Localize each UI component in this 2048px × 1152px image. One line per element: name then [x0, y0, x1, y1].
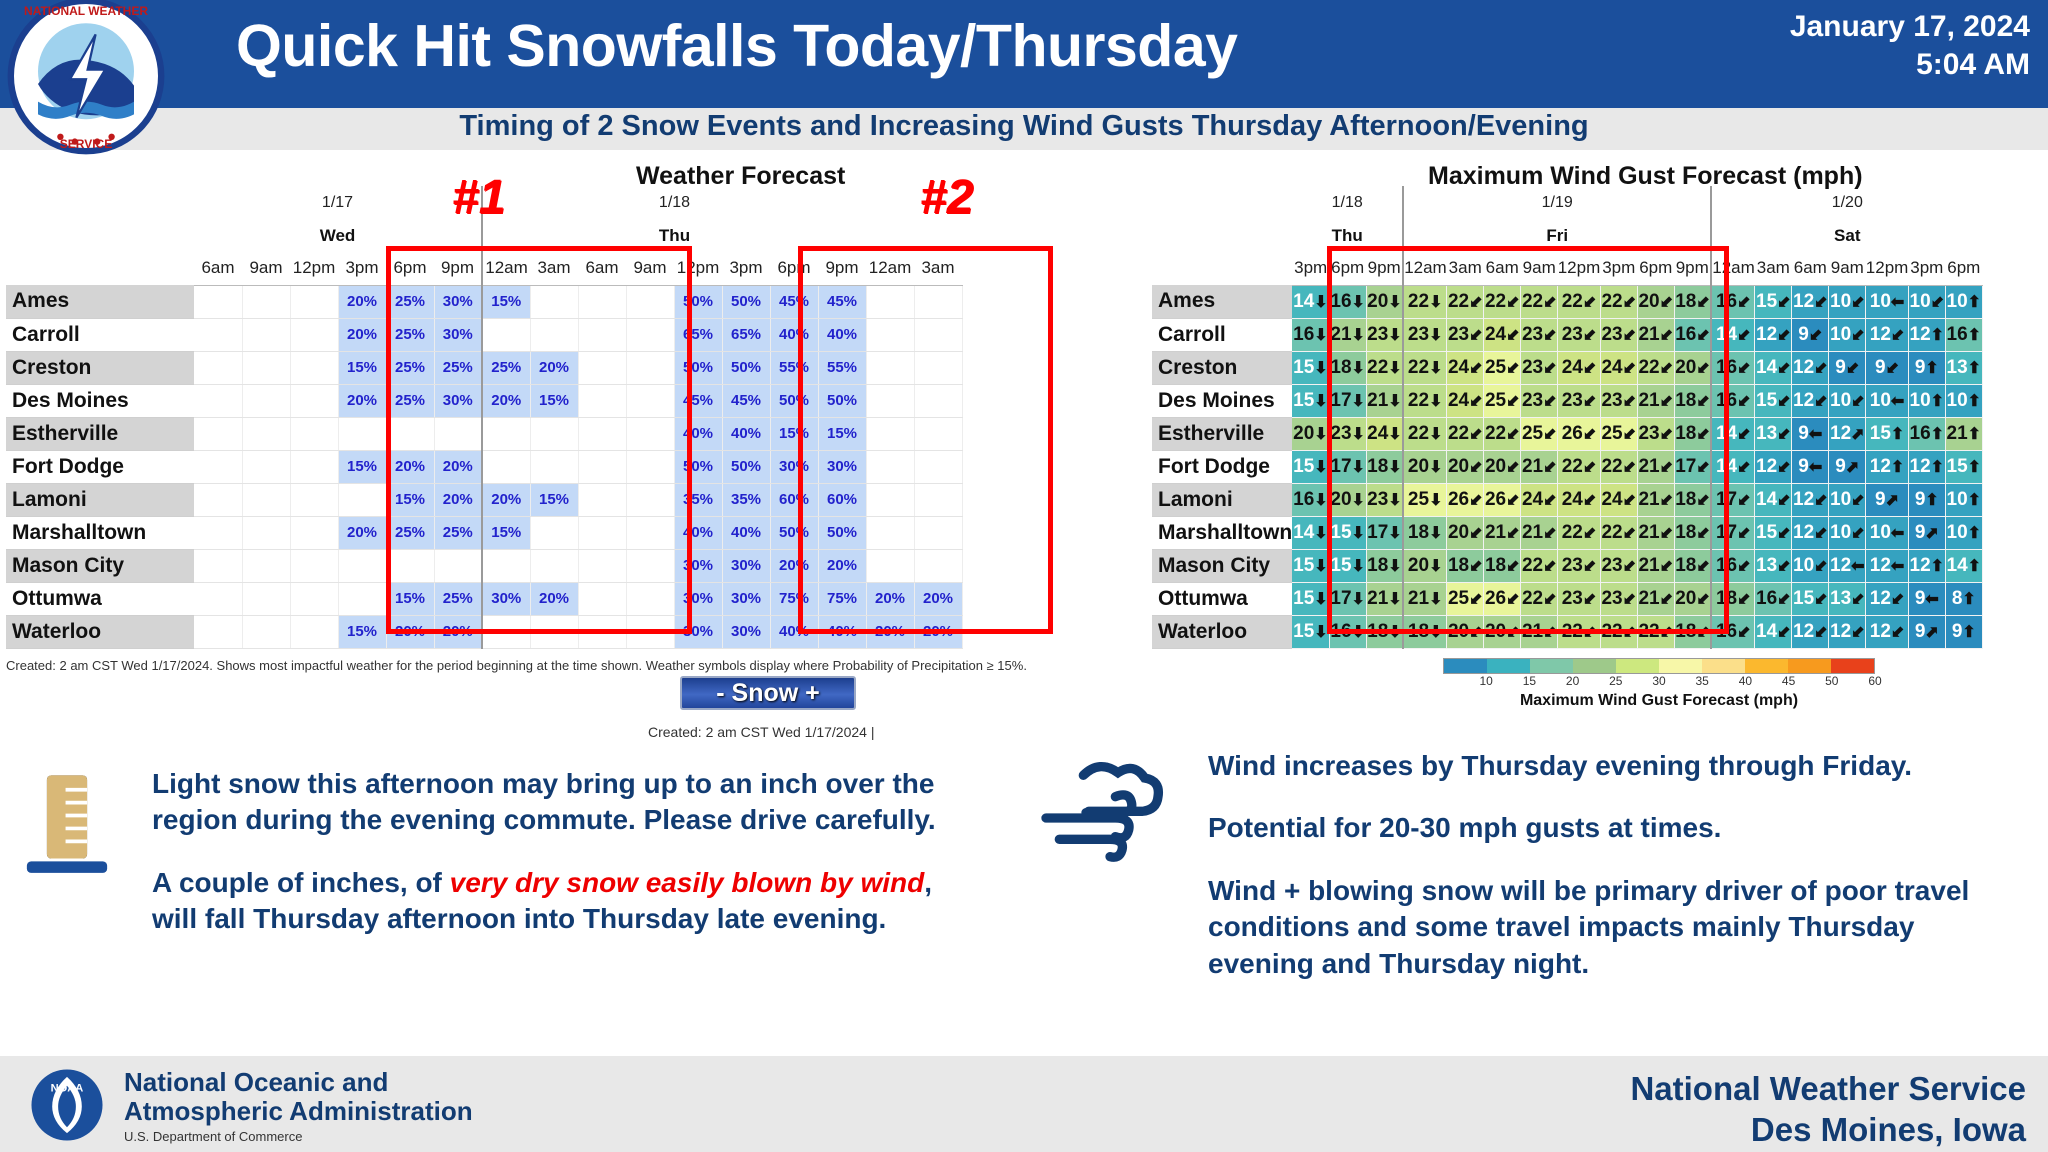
pop-cell: 45% [722, 384, 770, 417]
column-hour-header: 6am [578, 252, 626, 285]
wind-direction-arrow-icon: ⬋ [1851, 589, 1864, 609]
gust-cell: 9⬈ [1908, 615, 1945, 648]
wind-color-scale: 10152025303540455060 Maximum Wind Gust F… [1443, 658, 1875, 710]
wind-direction-arrow-icon: ⬇ [1352, 424, 1365, 444]
pop-cell [578, 549, 626, 582]
wind-direction-arrow-icon: ⬋ [1506, 391, 1519, 411]
gust-value: 16 [1293, 489, 1314, 510]
wind-direction-arrow-icon: ⬇ [1352, 292, 1365, 312]
wind-direction-arrow-icon: ⬋ [1623, 424, 1636, 444]
pop-cell [866, 516, 914, 549]
pop-cell [242, 285, 290, 318]
gust-cell: 22⬇ [1403, 417, 1447, 450]
column-hour-header: 3pm [338, 252, 386, 285]
wind-direction-arrow-icon: ⬇ [1429, 424, 1442, 444]
wind-direction-arrow-icon: ⬆ [1962, 622, 1975, 642]
wind-direction-arrow-icon: ⬋ [1777, 490, 1790, 510]
wind-direction-arrow-icon: ⬋ [1583, 292, 1596, 312]
gust-cell: 26⬋ [1484, 582, 1521, 615]
pop-cell: 50% [722, 285, 770, 318]
city-label: Estherville [1152, 417, 1292, 450]
wind-direction-arrow-icon: ⬋ [1583, 391, 1596, 411]
pop-cell [626, 417, 674, 450]
gust-cell: 16⬇ [1292, 318, 1329, 351]
pop-cell: 25% [386, 285, 434, 318]
table-row: Waterloo15%20%20%30%30%40%40%20%20% [6, 615, 962, 648]
gust-cell: 10⬅ [1866, 285, 1909, 318]
message-right-paragraph: Potential for 20-30 mph gusts at times. [1208, 810, 2018, 846]
pop-cell: 20% [338, 516, 386, 549]
snow-legend-chip: - Snow + [680, 676, 856, 710]
gust-cell: 9⬋ [1866, 351, 1909, 384]
city-label: Lamoni [6, 483, 194, 516]
gust-cell: 17⬋ [1711, 516, 1755, 549]
pop-cell: 30% [434, 285, 482, 318]
pop-cell [578, 351, 626, 384]
gust-cell: 12⬋ [1792, 384, 1829, 417]
table-row: Ottumwa15%25%30%20%30%30%75%75%20%20% [6, 582, 962, 615]
wind-direction-arrow-icon: ⬋ [1737, 523, 1750, 543]
message-right: Wind increases by Thursday evening throu… [1208, 748, 2018, 1008]
wind-direction-arrow-icon: ⬋ [1506, 358, 1519, 378]
pop-cell: 40% [674, 516, 722, 549]
gust-value: 22 [1562, 621, 1583, 642]
gust-value: 24 [1601, 489, 1622, 510]
pop-cell [194, 318, 242, 351]
gust-cell: 22⬋ [1558, 285, 1601, 318]
gust-value: 21 [1638, 555, 1659, 576]
pop-cell: 20% [338, 384, 386, 417]
wind-direction-arrow-icon: ⬋ [1851, 490, 1864, 510]
wind-direction-arrow-icon: ⬋ [1660, 358, 1673, 378]
pop-cell [578, 318, 626, 351]
wind-direction-arrow-icon: ⬅ [1891, 391, 1904, 411]
wind-direction-arrow-icon: ⬋ [1891, 622, 1904, 642]
gust-value: 12 [1793, 522, 1814, 543]
color-scale-segment [1616, 659, 1659, 673]
table-row: Ames14⬇16⬇20⬇22⬇22⬋22⬋22⬋22⬋22⬋20⬋18⬋16⬋… [1152, 285, 1982, 318]
gust-cell: 14⬆ [1945, 549, 1982, 582]
wind-direction-arrow-icon: ⬇ [1314, 457, 1327, 477]
gust-cell: 23⬋ [1521, 351, 1558, 384]
wind-direction-arrow-icon: ⬆ [1925, 358, 1938, 378]
gust-value: 21 [1638, 324, 1659, 345]
wind-direction-arrow-icon: ⬋ [1737, 424, 1750, 444]
gust-value: 10 [1870, 291, 1891, 312]
wind-direction-arrow-icon: ⬋ [1543, 622, 1556, 642]
gust-cell: 12⬆ [1908, 549, 1945, 582]
table-corner [1152, 252, 1292, 285]
wind-direction-arrow-icon: ⬋ [1623, 358, 1636, 378]
chip-created-text: Created: 2 am CST Wed 1/17/2024 | [648, 724, 874, 740]
gust-cell: 18⬋ [1674, 285, 1711, 318]
color-scale-tick: 30 [1652, 674, 1665, 688]
pop-cell [194, 516, 242, 549]
gust-cell: 18⬇ [1366, 615, 1403, 648]
gust-value: 20 [1367, 291, 1388, 312]
wind-direction-arrow-icon: ⬇ [1314, 424, 1327, 444]
column-hour-header: 3am [530, 252, 578, 285]
gust-cell: 23⬇ [1366, 318, 1403, 351]
table-row: Carroll20%25%30%65%65%40%40% [6, 318, 962, 351]
wind-direction-arrow-icon: ⬋ [1469, 490, 1482, 510]
gust-cell: 15⬋ [1755, 516, 1792, 549]
gust-value: 17 [1367, 522, 1388, 543]
gust-value: 18 [1330, 357, 1351, 378]
gust-value: 12 [1870, 621, 1891, 642]
city-label: Waterloo [1152, 615, 1292, 648]
gust-cell: 17⬇ [1329, 450, 1366, 483]
column-group-date: 1/17 [194, 186, 482, 219]
column-group-day: Thu [1292, 219, 1403, 252]
wind-direction-arrow-icon: ⬋ [1469, 325, 1482, 345]
wind-direction-arrow-icon: ⬋ [1777, 622, 1790, 642]
gust-cell: 14⬇ [1292, 516, 1329, 549]
gust-cell: 9⬆ [1908, 483, 1945, 516]
gust-value: 16 [1716, 357, 1737, 378]
column-hour-header: 3am [914, 252, 962, 285]
gust-cell: 15⬇ [1292, 615, 1329, 648]
gust-cell: 15⬇ [1292, 549, 1329, 582]
table-row: Des Moines20%25%30%20%15%45%45%50%50% [6, 384, 962, 417]
gust-cell: 18⬇ [1403, 516, 1447, 549]
wind-direction-arrow-icon: ⬅ [1891, 556, 1904, 576]
wind-direction-arrow-icon: ⬇ [1388, 457, 1401, 477]
wind-direction-arrow-icon: ⬋ [1696, 589, 1709, 609]
wind-direction-arrow-icon: ⬇ [1388, 325, 1401, 345]
gust-cell: 23⬋ [1558, 318, 1601, 351]
pop-cell: 50% [722, 450, 770, 483]
gust-cell: 18⬋ [1674, 516, 1711, 549]
gust-cell: 18⬋ [1674, 483, 1711, 516]
city-label: Waterloo [6, 615, 194, 648]
wind-direction-arrow-icon: ⬋ [1469, 589, 1482, 609]
pop-cell: 50% [770, 516, 818, 549]
pop-cell [242, 450, 290, 483]
gust-value: 12 [1910, 456, 1931, 477]
gust-cell: 20⬇ [1403, 549, 1447, 582]
wind-direction-arrow-icon: ⬋ [1583, 556, 1596, 576]
noaa-logo: NOAA [30, 1068, 104, 1142]
pop-cell: 25% [434, 516, 482, 549]
gust-cell: 16⬆ [1945, 318, 1982, 351]
wind-direction-arrow-icon: ⬋ [1777, 589, 1790, 609]
color-scale-tick: 40 [1739, 674, 1752, 688]
pop-cell [290, 384, 338, 417]
gust-cell: 22⬋ [1558, 450, 1601, 483]
pop-cell: 45% [674, 384, 722, 417]
pop-cell [530, 450, 578, 483]
pop-cell [866, 483, 914, 516]
wind-direction-arrow-icon: ⬅ [1851, 556, 1864, 576]
pop-cell: 55% [818, 351, 866, 384]
gust-cell: 23⬋ [1558, 582, 1601, 615]
pop-cell [866, 285, 914, 318]
city-label: Creston [6, 351, 194, 384]
gust-cell: 15⬇ [1329, 516, 1366, 549]
gust-value: 9 [1915, 489, 1926, 510]
gust-cell: 20⬇ [1292, 417, 1329, 450]
column-hour-header: 6pm [1329, 252, 1366, 285]
gust-value: 10 [1870, 522, 1891, 543]
wind-direction-arrow-icon: ⬋ [1506, 325, 1519, 345]
gust-cell: 12⬋ [1792, 615, 1829, 648]
pop-cell: 65% [722, 318, 770, 351]
wind-direction-arrow-icon: ⬋ [1583, 523, 1596, 543]
gust-cell: 21⬋ [1521, 516, 1558, 549]
wind-direction-arrow-icon: ⬇ [1314, 523, 1327, 543]
city-label: Marshalltown [6, 516, 194, 549]
gust-value: 18 [1367, 621, 1388, 642]
pop-cell [194, 483, 242, 516]
pop-cell: 30% [482, 582, 530, 615]
column-group-date: 1/18 [482, 186, 866, 219]
gust-value: 22 [1522, 588, 1543, 609]
gust-value: 20 [1675, 357, 1696, 378]
gust-value: 15 [1330, 522, 1351, 543]
city-label: Creston [1152, 351, 1292, 384]
wind-direction-arrow-icon: ⬆ [1931, 325, 1944, 345]
pop-cell [914, 285, 962, 318]
gust-value: 12 [1793, 621, 1814, 642]
gust-value: 10 [1910, 291, 1931, 312]
gust-cell: 13⬋ [1755, 549, 1792, 582]
wind-direction-arrow-icon: ⬋ [1543, 556, 1556, 576]
gust-value: 14 [1756, 357, 1777, 378]
body-text: Light snow this afternoon may bring up t… [152, 768, 936, 835]
gust-cell: 22⬋ [1600, 615, 1637, 648]
gust-value: 18 [1367, 555, 1388, 576]
message-left-paragraph: A couple of inches, of very dry snow eas… [152, 865, 942, 938]
pop-cell [626, 582, 674, 615]
pop-cell [866, 318, 914, 351]
pop-cell: 35% [674, 483, 722, 516]
wind-direction-arrow-icon: ⬋ [1814, 490, 1827, 510]
gust-value: 17 [1330, 588, 1351, 609]
table-row: Ames20%25%30%15%50%50%45%45% [6, 285, 962, 318]
wind-direction-arrow-icon: ⬋ [1737, 457, 1750, 477]
wind-direction-arrow-icon: ⬆ [1968, 490, 1981, 510]
gust-cell: 18⬇ [1403, 615, 1447, 648]
wind-direction-arrow-icon: ⬋ [1469, 622, 1482, 642]
wind-direction-arrow-icon: ⬇ [1314, 292, 1327, 312]
gust-cell: 25⬇ [1403, 483, 1447, 516]
wind-direction-arrow-icon: ⬋ [1469, 556, 1482, 576]
gust-cell: 24⬋ [1600, 483, 1637, 516]
gust-value: 10 [1830, 489, 1851, 510]
pop-cell: 20% [914, 582, 962, 615]
gust-value: 24 [1448, 357, 1469, 378]
gust-value: 26 [1448, 489, 1469, 510]
wind-direction-arrow-icon: ⬋ [1851, 523, 1864, 543]
column-hour-header: 9pm [818, 252, 866, 285]
pop-cell: 40% [770, 615, 818, 648]
gust-cell: 24⬋ [1558, 351, 1601, 384]
table-corner [1152, 186, 1292, 219]
column-group-day: Thu [482, 219, 866, 252]
column-hour-header: 9pm [1366, 252, 1403, 285]
pop-cell [290, 615, 338, 648]
wind-direction-arrow-icon: ⬇ [1314, 391, 1327, 411]
pop-cell [194, 549, 242, 582]
color-scale-segment [1745, 659, 1788, 673]
gust-value: 21 [1638, 456, 1659, 477]
wind-direction-arrow-icon: ⬈ [1925, 622, 1938, 642]
pop-cell: 30% [674, 582, 722, 615]
pop-cell [626, 318, 674, 351]
wind-direction-arrow-icon: ⬇ [1429, 556, 1442, 576]
wind-direction-arrow-icon: ⬋ [1506, 292, 1519, 312]
pop-cell [578, 450, 626, 483]
gust-value: 9 [1915, 588, 1926, 609]
gust-value: 22 [1638, 357, 1659, 378]
gust-cell: 23⬋ [1637, 417, 1674, 450]
gust-value: 26 [1485, 588, 1506, 609]
gust-cell: 24⬋ [1447, 384, 1484, 417]
column-hour-header: 9am [1521, 252, 1558, 285]
gust-value: 21 [1330, 324, 1351, 345]
column-hour-header: 12am [1711, 252, 1755, 285]
city-label: Des Moines [6, 384, 194, 417]
gust-cell: 23⬇ [1403, 318, 1447, 351]
gust-value: 9 [1915, 621, 1926, 642]
color-scale-segment [1702, 659, 1745, 673]
pop-cell: 15% [482, 285, 530, 318]
gust-value: 18 [1716, 588, 1737, 609]
pop-cell: 40% [818, 318, 866, 351]
gust-value: 18 [1485, 555, 1506, 576]
wind-direction-arrow-icon: ⬇ [1429, 490, 1442, 510]
pop-cell [482, 318, 530, 351]
table-row: Estherville40%40%15%15% [6, 417, 962, 450]
wind-direction-arrow-icon: ⬇ [1352, 490, 1365, 510]
wind-direction-arrow-icon: ⬋ [1583, 589, 1596, 609]
pop-cell: 45% [770, 285, 818, 318]
pop-cell [866, 417, 914, 450]
gust-cell: 9⬆ [1908, 351, 1945, 384]
wind-direction-arrow-icon: ⬋ [1696, 358, 1709, 378]
gust-value: 18 [1408, 621, 1429, 642]
wind-direction-arrow-icon: ⬇ [1429, 391, 1442, 411]
pop-cell: 15% [338, 615, 386, 648]
snow-ruler-icon [24, 772, 110, 882]
wind-direction-arrow-icon: ⬋ [1623, 490, 1636, 510]
gust-cell: 18⬋ [1711, 582, 1755, 615]
gust-cell: 24⬋ [1521, 483, 1558, 516]
pop-cell [290, 582, 338, 615]
pop-cell: 30% [434, 384, 482, 417]
gust-cell: 26⬋ [1558, 417, 1601, 450]
pop-cell: 20% [338, 318, 386, 351]
gust-value: 18 [1675, 555, 1696, 576]
wind-direction-arrow-icon: ⬋ [1777, 424, 1790, 444]
gust-cell: 20⬋ [1484, 615, 1521, 648]
pop-cell: 60% [818, 483, 866, 516]
gust-cell: 16⬋ [1674, 318, 1711, 351]
pop-cell [386, 417, 434, 450]
gust-cell: 25⬋ [1521, 417, 1558, 450]
color-scale-tick: 25 [1609, 674, 1622, 688]
column-hour-header: 3am [1447, 252, 1484, 285]
svg-text:NATIONAL WEATHER: NATIONAL WEATHER [24, 4, 148, 18]
gust-value: 18 [1675, 423, 1696, 444]
pop-cell: 45% [818, 285, 866, 318]
wind-direction-arrow-icon: ⬋ [1814, 622, 1827, 642]
gust-value: 12 [1910, 324, 1931, 345]
gust-value: 22 [1522, 291, 1543, 312]
wind-direction-arrow-icon: ⬇ [1429, 292, 1442, 312]
gust-cell: 17⬋ [1711, 483, 1755, 516]
gust-value: 12 [1756, 456, 1777, 477]
pop-cell [530, 516, 578, 549]
wind-direction-arrow-icon: ⬅ [1891, 292, 1904, 312]
wind-direction-arrow-icon: ⬋ [1777, 523, 1790, 543]
city-label: Mason City [6, 549, 194, 582]
gust-cell: 9⬅ [1792, 450, 1829, 483]
pop-cell [866, 384, 914, 417]
gust-value: 12 [1830, 555, 1851, 576]
nws-logo: NATIONAL WEATHER SERVICE [6, 0, 166, 156]
gust-cell: 23⬋ [1521, 318, 1558, 351]
gust-value: 24 [1448, 390, 1469, 411]
pop-cell: 15% [530, 384, 578, 417]
wind-direction-arrow-icon: ⬋ [1543, 490, 1556, 510]
wind-direction-arrow-icon: ⬋ [1696, 523, 1709, 543]
gust-value: 9 [1798, 324, 1809, 345]
wind-direction-arrow-icon: ⬋ [1506, 556, 1519, 576]
city-label: Ottumwa [6, 582, 194, 615]
gust-value: 10 [1910, 390, 1931, 411]
gust-cell: 10⬋ [1829, 318, 1866, 351]
gust-cell: 10⬆ [1945, 384, 1982, 417]
wind-direction-arrow-icon: ⬋ [1583, 622, 1596, 642]
wind-direction-arrow-icon: ⬆ [1968, 391, 1981, 411]
wind-direction-arrow-icon: ⬆ [1931, 391, 1944, 411]
gust-cell: 22⬋ [1447, 417, 1484, 450]
pop-cell [530, 549, 578, 582]
table-row: Marshalltown14⬇15⬇17⬇18⬇20⬋21⬋21⬋22⬋22⬋2… [1152, 516, 1982, 549]
column-hour-header: 6am [194, 252, 242, 285]
table-row: Carroll16⬇21⬇23⬇23⬇23⬋24⬋23⬋23⬋23⬋21⬋16⬋… [1152, 318, 1982, 351]
pop-cell: 25% [386, 351, 434, 384]
pop-cell [914, 483, 962, 516]
pop-cell: 25% [386, 384, 434, 417]
gust-value: 13 [1756, 555, 1777, 576]
gust-value: 16 [1756, 588, 1777, 609]
column-hour-header: 6pm [1945, 252, 1982, 285]
gust-value: 20 [1638, 291, 1659, 312]
wind-direction-arrow-icon: ⬋ [1777, 556, 1790, 576]
gust-cell: 15⬇ [1292, 450, 1329, 483]
gust-value: 12 [1910, 555, 1931, 576]
gust-value: 25 [1485, 357, 1506, 378]
wind-direction-arrow-icon: ⬋ [1583, 325, 1596, 345]
gust-cell: 22⬇ [1403, 351, 1447, 384]
gust-cell: 10⬋ [1908, 285, 1945, 318]
column-hour-header: 6pm [1637, 252, 1674, 285]
gust-cell: 18⬋ [1484, 549, 1521, 582]
wind-direction-arrow-icon: ⬋ [1737, 358, 1750, 378]
gust-cell: 21⬋ [1521, 450, 1558, 483]
wind-direction-arrow-icon: ⬇ [1352, 523, 1365, 543]
pop-cell: 15% [818, 417, 866, 450]
pop-cell [338, 483, 386, 516]
pop-cell: 15% [386, 582, 434, 615]
pop-cell [914, 450, 962, 483]
gust-cell: 21⬇ [1403, 582, 1447, 615]
gust-value: 16 [1330, 291, 1351, 312]
wind-direction-arrow-icon: ⬋ [1696, 622, 1709, 642]
